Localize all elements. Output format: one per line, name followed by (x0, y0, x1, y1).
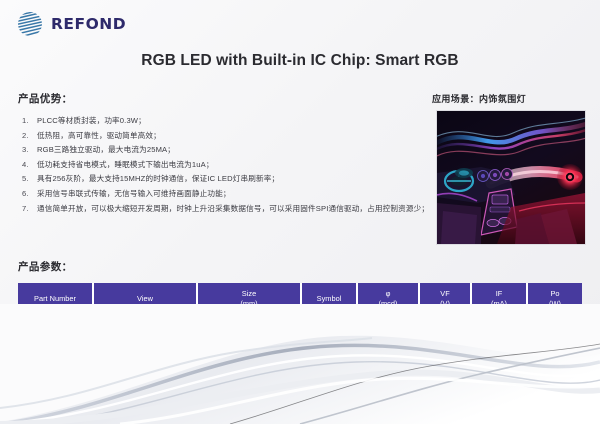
advantage-number: 1. (22, 114, 37, 129)
if-cell: 20 (472, 336, 528, 357)
vf-cell: 5 (420, 357, 472, 378)
column-header: Po(W) (528, 283, 582, 314)
phi-cell: 340 (358, 357, 420, 378)
advantage-number: 5. (22, 172, 37, 187)
symbol-cell: B (302, 357, 358, 378)
po-cell: 0.1 (528, 336, 582, 357)
if-cell: 60 (472, 378, 528, 399)
advantage-item: 5.具有256灰阶，最大支持15MHZ的时钟通信，保证IC LED灯串刷新率； (22, 172, 432, 187)
po-cell: 0.1 (528, 314, 582, 336)
column-header-line2: (W) (530, 299, 580, 309)
brand-logo: REFOND (16, 10, 126, 38)
column-header-line1: Part Number (20, 294, 90, 304)
column-header-line2: (mA) (474, 299, 524, 309)
advantage-number: 2. (22, 129, 37, 144)
phi-cell: 1700 (358, 336, 420, 357)
vf-cell: 5 (420, 336, 472, 357)
vf-cell: 5 (420, 378, 472, 399)
symbol-cell: R (302, 314, 358, 336)
column-header-line1: IF (474, 289, 524, 299)
advantage-item: 7.通信简单开放，可以极大缩短开发周期，时钟上升沿采集数据信号，可以采用固件SP… (22, 202, 432, 217)
advantages-heading: 产品优势： (18, 91, 73, 106)
advantage-number: 3. (22, 143, 37, 158)
phi-cell: 800 (358, 314, 420, 336)
size-cell: 3.5*3.5*1.47 (198, 314, 302, 399)
if-cell: 20 (472, 314, 528, 336)
striped-globe-icon (16, 10, 44, 38)
application-scene-heading: 应用场景：内饰氛围灯 (432, 92, 526, 105)
column-header: Part Number (18, 283, 94, 314)
po-cell: 0.1 (528, 357, 582, 378)
advantages-list: 1.PLCC等材质封装，功率0.3W；2.低热阻，高可靠性，驱动简单高效；3.R… (22, 114, 432, 216)
advantage-text: 低热阻，高可靠性，驱动简单高效； (37, 129, 432, 144)
symbol-cell: W (302, 378, 358, 399)
column-header-line1: φ (360, 289, 416, 299)
advantage-item: 1.PLCC等材质封装，功率0.3W； (22, 114, 432, 129)
column-header: VF(V) (420, 283, 472, 314)
advantage-number: 4. (22, 158, 37, 173)
table-header-row: Part NumberViewSize(mm)Symbolφ(mcd)VF(V)… (18, 283, 582, 314)
column-header-line1: VF (422, 289, 468, 299)
advantage-text: 通信简单开放，可以极大缩短开发周期，时钟上升沿采集数据信号，可以采用固件SPI通… (37, 202, 432, 217)
if-cell: 20 (472, 357, 528, 378)
vf-cell: 5 (420, 314, 472, 336)
symbol-cell: G (302, 336, 358, 357)
column-header: View (94, 283, 198, 314)
advantage-text: PLCC等材质封装，功率0.3W； (37, 114, 432, 129)
brand-name: REFOND (51, 15, 126, 33)
page-title: RGB LED with Built-in IC Chip: Smart RGB (0, 52, 600, 70)
column-header-line1: View (96, 294, 194, 304)
advantage-number: 6. (22, 187, 37, 202)
parameters-table: Part NumberViewSize(mm)Symbolφ(mcd)VF(V)… (18, 283, 582, 399)
advantage-item: 4.低功耗支持省电模式，睡眠模式下输出电流为1uA； (22, 158, 432, 173)
advantage-text: 低功耗支持省电模式，睡眠模式下输出电流为1uA； (37, 158, 432, 173)
slide-canvas: REFOND RGB LED with Built-in IC Chip: Sm… (0, 0, 600, 424)
column-header-line2: (mcd) (360, 299, 416, 309)
column-header-line2: (mm) (200, 299, 298, 309)
plcc-led-package-icon (94, 314, 198, 399)
car-interior-ambient-lighting-photo (436, 110, 586, 245)
advantage-text: 采用信号串联式传输，无信号输入可维持画面静止功能； (37, 187, 432, 202)
column-header: Size(mm) (198, 283, 302, 314)
phi-cell: 3600 (358, 378, 420, 399)
advantage-item: 6.采用信号串联式传输，无信号输入可维持画面静止功能； (22, 187, 432, 202)
parameters-heading: 产品参数： (18, 259, 73, 274)
part-number-cell: PLCC3535 (18, 314, 94, 399)
advantage-number: 7. (22, 202, 37, 217)
advantage-item: 3.RGB三路独立驱动，最大电流为25MA； (22, 143, 432, 158)
column-header-line2: (V) (422, 299, 468, 309)
advantage-text: 具有256灰阶，最大支持15MHZ的时钟通信，保证IC LED灯串刷新率； (37, 172, 432, 187)
column-header: IF(mA) (472, 283, 528, 314)
column-header-line1: Size (200, 289, 298, 299)
column-header-line1: Symbol (304, 294, 354, 304)
column-header-line1: Po (530, 289, 580, 299)
column-header: Symbol (302, 283, 358, 314)
column-header: φ(mcd) (358, 283, 420, 314)
po-cell: 0.3 (528, 378, 582, 399)
table-row: PLCC35353.5*3.5*1.47R8005200.1 (18, 314, 582, 336)
advantage-text: RGB三路独立驱动，最大电流为25MA； (37, 143, 432, 158)
advantage-item: 2.低热阻，高可靠性，驱动简单高效； (22, 129, 432, 144)
